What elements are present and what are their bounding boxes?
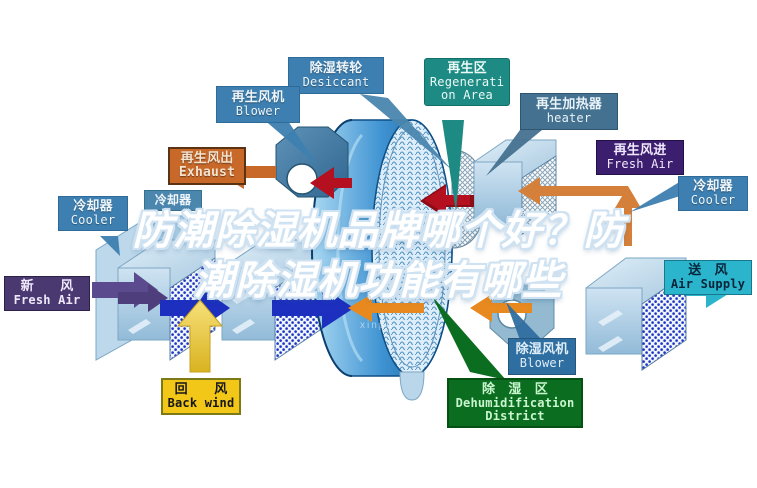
label-exhaust-cn: 再生风出 [172, 152, 242, 166]
label-regeneration-area-en2: on Area [427, 89, 507, 102]
label-fresh-air: 新 风 Fresh Air [4, 276, 90, 311]
label-desiccant-en: Desiccant [291, 76, 381, 89]
label-cooler-middle: 冷却器 [144, 190, 202, 211]
label-regeneration-heater-cn: 再生加热器 [523, 98, 615, 112]
label-fresh-air-cn: 新 风 [7, 280, 87, 294]
label-exhaust-en: Exhaust [172, 166, 242, 180]
rotor-foot [400, 372, 424, 400]
label-cooler-left-cn: 冷却器 [61, 200, 125, 214]
label-dehumidification-district-en2: District [451, 410, 579, 423]
label-desiccant-cn: 除湿转轮 [291, 62, 381, 76]
dehumidifier-diagram-image: xinpu [0, 0, 757, 488]
label-dehumidification-blower: 除湿风机 Blower [508, 338, 576, 375]
label-regeneration-blower-en: Blower [219, 105, 297, 118]
label-cooler-left-en: Cooler [61, 214, 125, 227]
label-desiccant: 除湿转轮 Desiccant [288, 57, 384, 94]
label-regen-fresh-air-en: Fresh Air [599, 158, 681, 171]
label-back-wind: 回 风 Back wind [161, 378, 241, 415]
label-cooler-left: 冷却器 Cooler [58, 196, 128, 231]
label-exhaust: 再生风出 Exhaust [168, 147, 246, 185]
label-regen-fresh-air: 再生风进 Fresh Air [596, 140, 684, 175]
label-regeneration-blower-cn: 再生风机 [219, 91, 297, 105]
label-regeneration-area: 再生区 Regenerati on Area [424, 58, 510, 106]
label-back-wind-en: Back wind [165, 397, 237, 410]
label-dehumidification-district: 除 湿 区 Dehumidification District [447, 378, 583, 428]
label-regen-fresh-air-cn: 再生风进 [599, 144, 681, 158]
svg-text:xinpu: xinpu [360, 320, 394, 331]
label-regeneration-heater-en: heater [523, 112, 615, 125]
label-regeneration-blower: 再生风机 Blower [216, 86, 300, 123]
label-cooler-middle-cn: 冷却器 [147, 194, 199, 207]
label-cooler-right-en: Cooler [681, 194, 745, 207]
label-dehumidification-blower-en: Blower [511, 357, 573, 370]
label-regeneration-heater: 再生加热器 heater [520, 93, 618, 130]
label-air-supply-en: Air Supply [667, 278, 749, 291]
label-air-supply: 送 风 Air Supply [664, 260, 752, 295]
label-cooler-right-cn: 冷却器 [681, 180, 745, 194]
label-air-supply-cn: 送 风 [667, 264, 749, 278]
label-regeneration-area-cn: 再生区 [427, 62, 507, 76]
label-back-wind-cn: 回 风 [165, 383, 237, 397]
label-fresh-air-en: Fresh Air [7, 294, 87, 307]
label-dehumidification-blower-cn: 除湿风机 [511, 343, 573, 357]
label-dehumidification-district-cn: 除 湿 区 [451, 383, 579, 397]
label-cooler-right: 冷却器 Cooler [678, 176, 748, 211]
